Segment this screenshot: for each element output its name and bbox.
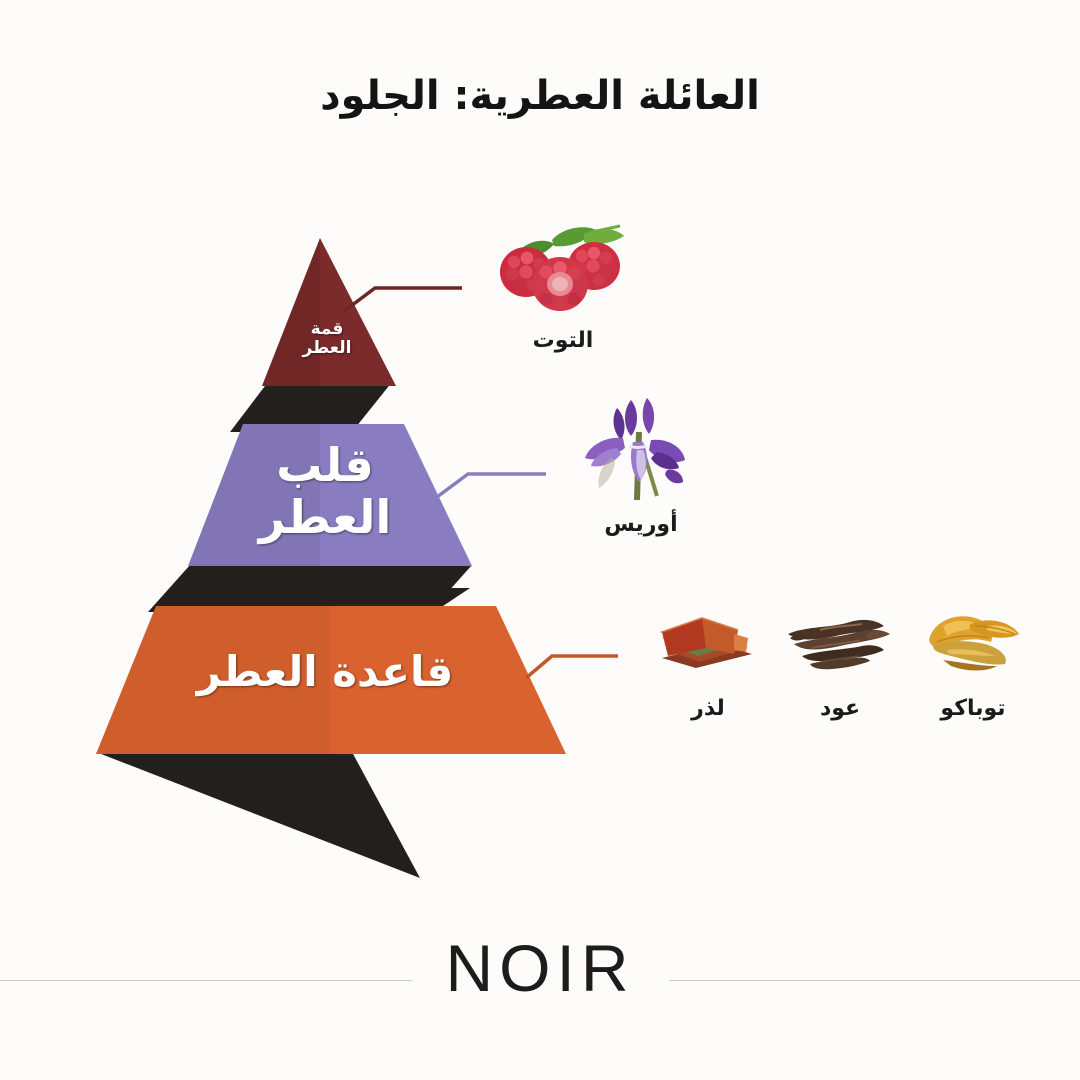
ingredient-item-oud[interactable]: عود — [770, 604, 910, 721]
oud-wood-chips-icon — [780, 604, 900, 682]
connector-line-top — [343, 288, 462, 312]
brand-wordmark: NOIR — [0, 930, 1080, 1006]
ingredient-label-oud: عود — [770, 696, 910, 721]
ingredient-label-orris: أوريس — [556, 512, 726, 537]
ingredient-item-orris[interactable]: أوريس — [556, 396, 726, 537]
tier-base-shade — [96, 606, 330, 754]
brand-text: NOIR — [412, 931, 669, 1005]
leather-swatches-icon — [648, 604, 768, 682]
infographic-canvas: العائلة العطرية: الجلود قمة العطر — [0, 0, 1080, 1080]
tier-top-shade — [262, 238, 320, 386]
ingredient-item-leather[interactable]: لذر — [638, 604, 778, 721]
ingredient-label-tobacco: توباكو — [898, 696, 1048, 721]
base-shadow-notch — [268, 588, 470, 608]
connector-line-base — [526, 656, 618, 678]
fragrance-pyramid-graphic — [0, 0, 1080, 1080]
ingredient-item-berry[interactable]: التوت — [478, 222, 648, 353]
ingredient-label-berry: التوت — [478, 328, 648, 353]
ingredient-label-leather: لذر — [638, 696, 778, 721]
tobacco-leaves-icon — [913, 604, 1033, 682]
base-tier-shadow — [96, 752, 420, 878]
tier-middle-shade — [188, 424, 320, 566]
iris-flower-icon — [571, 396, 711, 504]
ingredient-item-tobacco[interactable]: توباكو — [898, 604, 1048, 721]
connector-line-middle — [437, 474, 546, 497]
raspberries-icon — [488, 222, 638, 318]
